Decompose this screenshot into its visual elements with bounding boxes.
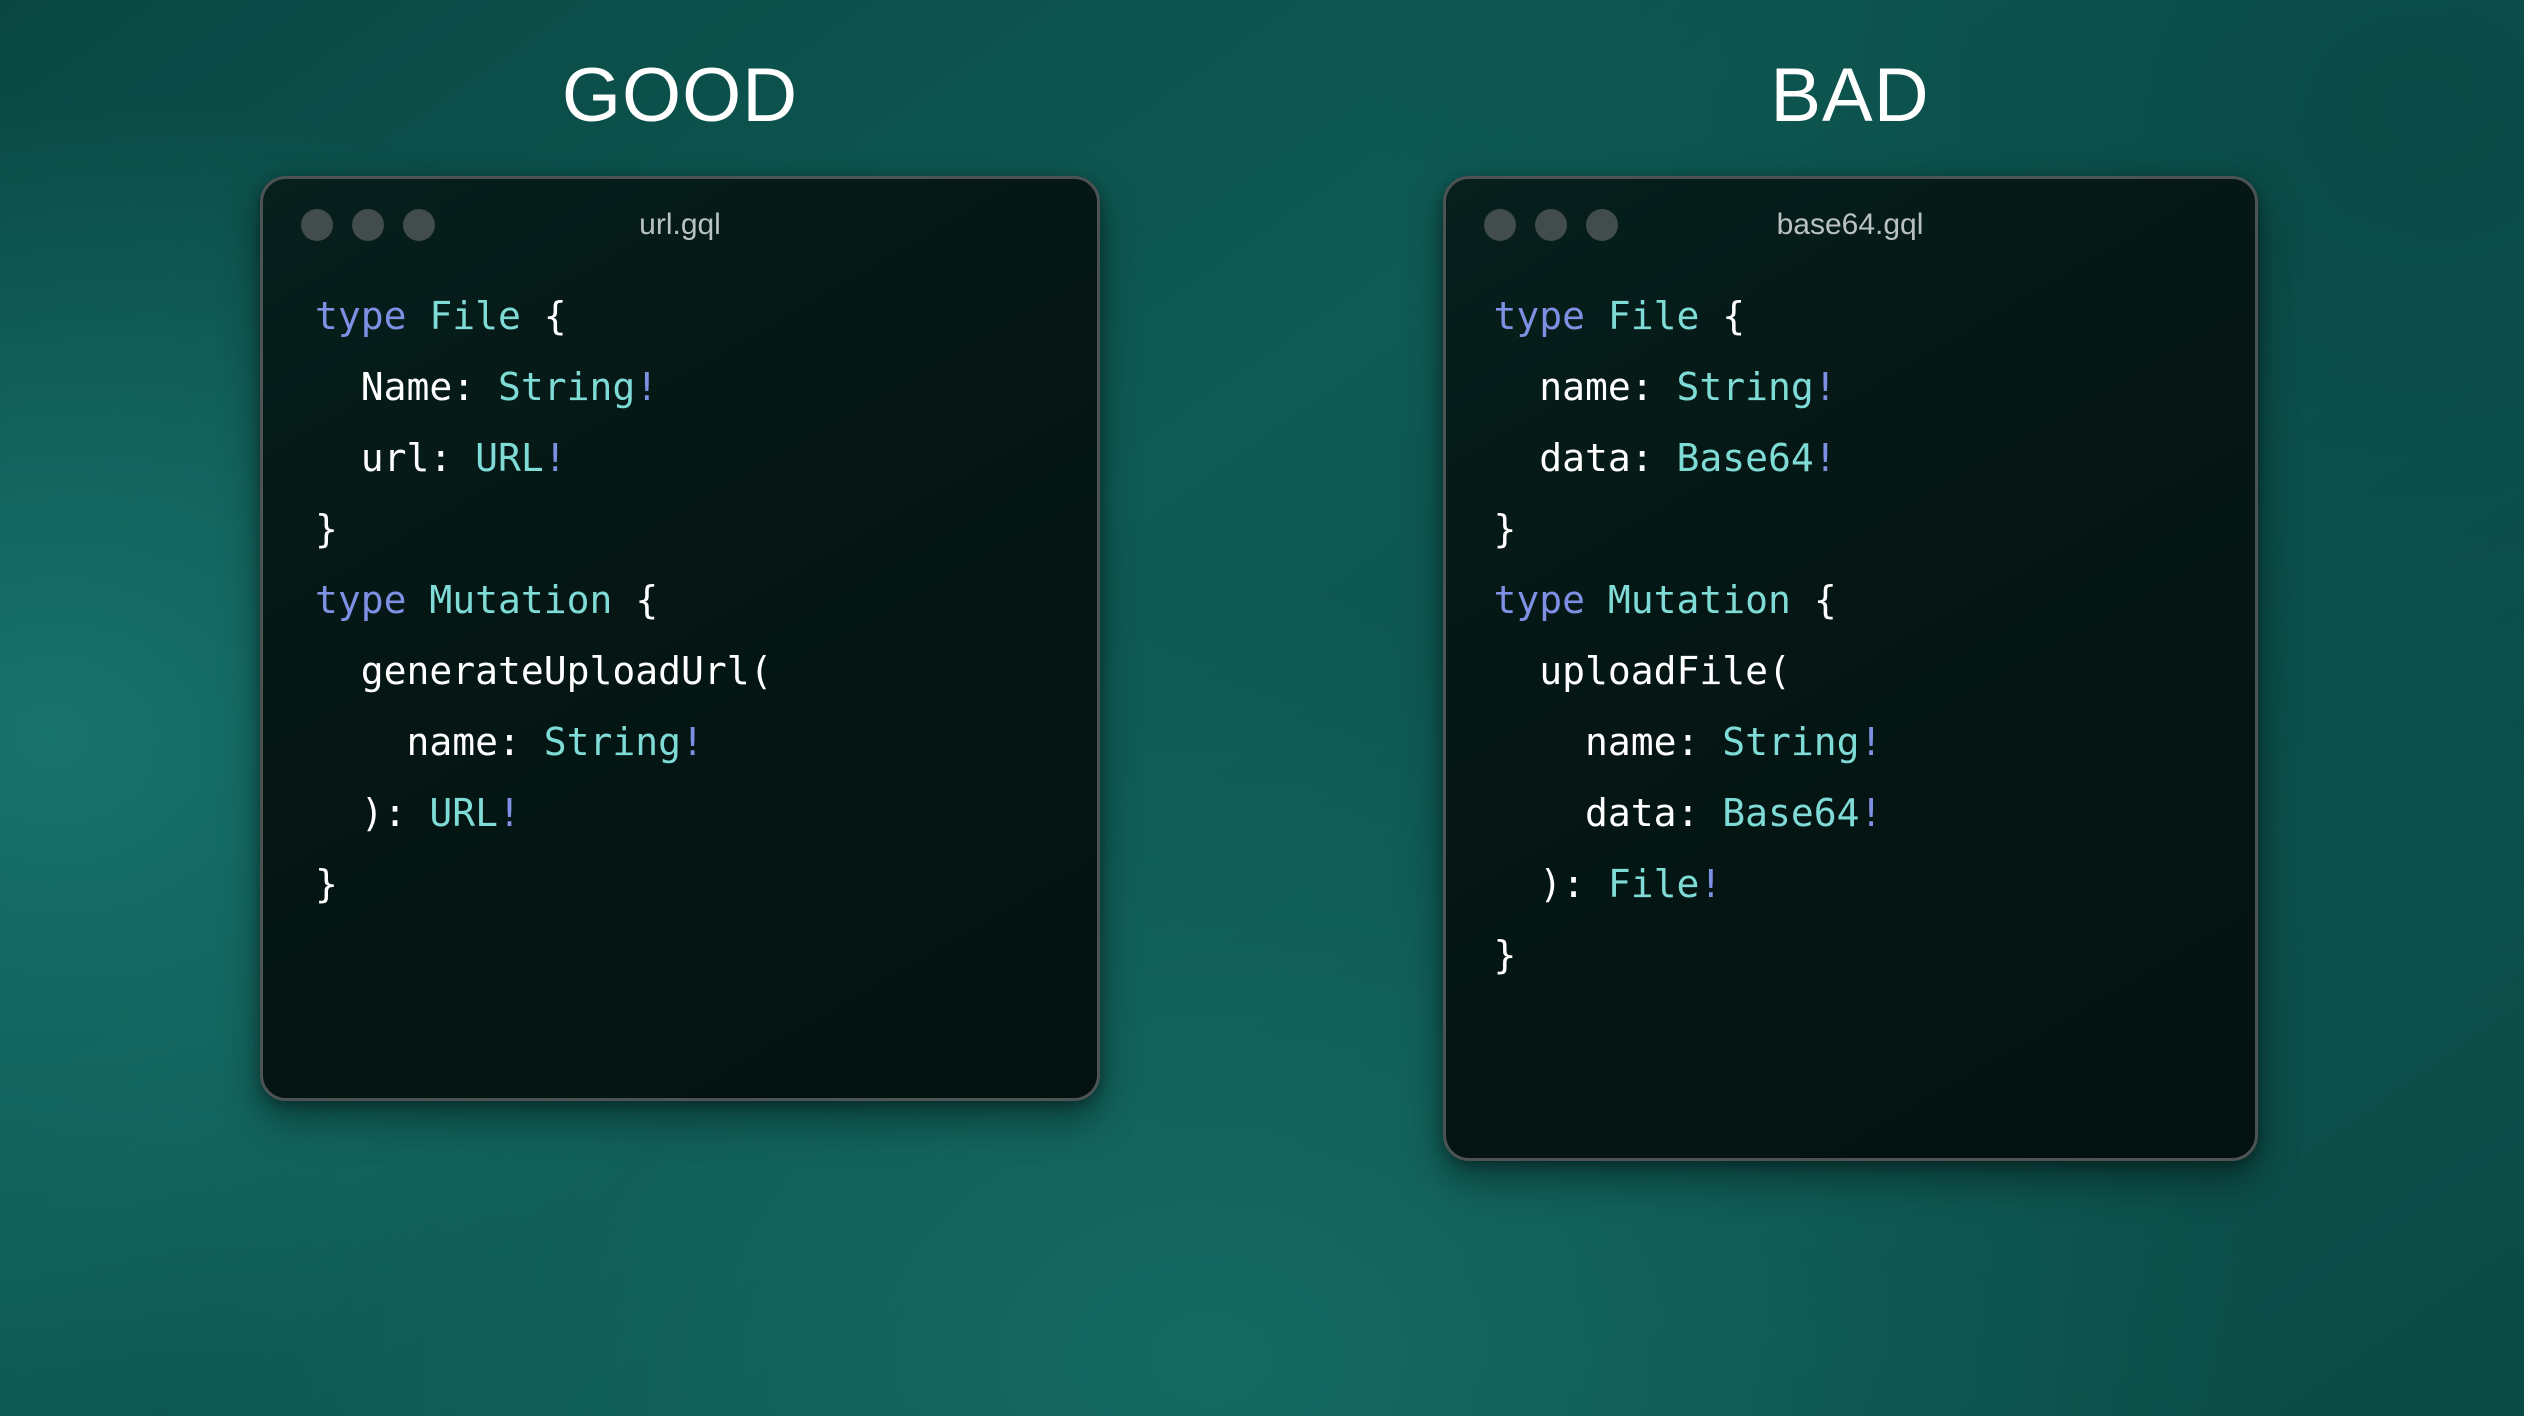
code-token-plain: ): — [1494, 862, 1608, 906]
window-traffic-lights-bad — [1484, 209, 1618, 241]
code-token-type: File — [429, 294, 521, 338]
code-line: } — [1494, 920, 2255, 991]
code-token-plain: name: — [1494, 365, 1677, 409]
code-token-plain: { — [1699, 294, 1745, 338]
code-token-plain — [407, 294, 430, 338]
close-dot-icon[interactable] — [1484, 209, 1516, 241]
code-token-type: Mutation — [429, 578, 612, 622]
code-token-plain: } — [315, 507, 338, 551]
code-token-plain: { — [612, 578, 658, 622]
code-line: } — [1494, 494, 2255, 565]
minimize-dot-icon[interactable] — [352, 209, 384, 241]
code-token-plain: Name: — [315, 365, 498, 409]
code-line: name: String! — [1494, 352, 2255, 423]
good-heading: GOOD — [562, 58, 798, 134]
code-token-plain: generateUploadUrl( — [315, 649, 773, 693]
code-token-kw: type — [315, 578, 407, 622]
code-token-kw: type — [1494, 294, 1586, 338]
code-line: generateUploadUrl( — [315, 636, 1097, 707]
code-token-type: URL — [429, 791, 498, 835]
code-token-plain: } — [1494, 507, 1517, 551]
code-line: type Mutation { — [315, 565, 1097, 636]
code-token-type: String — [544, 720, 681, 764]
code-token-plain: } — [1494, 933, 1517, 977]
code-line: data: Base64! — [1494, 423, 2255, 494]
code-token-bang: ! — [1814, 365, 1837, 409]
code-token-bang: ! — [498, 791, 521, 835]
code-line: } — [315, 494, 1097, 565]
code-token-plain: ): — [315, 791, 429, 835]
code-token-plain — [1585, 294, 1608, 338]
minimize-dot-icon[interactable] — [1535, 209, 1567, 241]
code-line: name: String! — [315, 707, 1097, 778]
code-token-bang: ! — [681, 720, 704, 764]
code-line: ): File! — [1494, 849, 2255, 920]
bad-example-column: BAD base64.gql type File { name: String!… — [1400, 58, 2300, 1161]
code-content-bad[interactable]: type File { name: String! data: Base64!}… — [1446, 271, 2255, 991]
code-window-good[interactable]: url.gql type File { Name: String! url: U… — [260, 176, 1100, 1101]
code-token-kw: type — [315, 294, 407, 338]
maximize-dot-icon[interactable] — [1586, 209, 1618, 241]
code-token-bang: ! — [544, 436, 567, 480]
code-token-plain: { — [521, 294, 567, 338]
code-token-bang: ! — [1860, 791, 1883, 835]
code-line: uploadFile( — [1494, 636, 2255, 707]
code-window-bad[interactable]: base64.gql type File { name: String! dat… — [1443, 176, 2258, 1161]
code-token-type: String — [1677, 365, 1814, 409]
code-token-kw: type — [1494, 578, 1586, 622]
code-token-type: URL — [475, 436, 544, 480]
code-line: ): URL! — [315, 778, 1097, 849]
comparison-canvas: GOOD url.gql type File { Name: String! u… — [0, 0, 2524, 1416]
bad-heading: BAD — [1770, 58, 1929, 134]
code-token-type: File — [1608, 862, 1700, 906]
code-token-bang: ! — [1699, 862, 1722, 906]
code-token-plain — [1585, 578, 1608, 622]
code-line: type Mutation { — [1494, 565, 2255, 636]
code-token-type: File — [1608, 294, 1700, 338]
code-token-plain: { — [1791, 578, 1837, 622]
code-line: } — [315, 849, 1097, 920]
code-token-plain: url: — [315, 436, 475, 480]
code-token-type: Mutation — [1608, 578, 1791, 622]
code-content-good[interactable]: type File { Name: String! url: URL!}type… — [263, 271, 1097, 920]
code-token-type: Base64 — [1677, 436, 1814, 480]
code-token-plain — [407, 578, 430, 622]
good-example-column: GOOD url.gql type File { Name: String! u… — [240, 58, 1120, 1101]
code-token-plain: name: — [1494, 720, 1723, 764]
code-line: data: Base64! — [1494, 778, 2255, 849]
code-line: type File { — [315, 281, 1097, 352]
code-token-plain: data: — [1494, 791, 1723, 835]
code-token-type: String — [1722, 720, 1859, 764]
window-titlebar-good: url.gql — [263, 179, 1097, 271]
code-token-type: Base64 — [1722, 791, 1859, 835]
code-line: Name: String! — [315, 352, 1097, 423]
code-token-plain: name: — [315, 720, 544, 764]
code-token-bang: ! — [1860, 720, 1883, 764]
maximize-dot-icon[interactable] — [403, 209, 435, 241]
code-line: url: URL! — [315, 423, 1097, 494]
window-titlebar-bad: base64.gql — [1446, 179, 2255, 271]
code-line: name: String! — [1494, 707, 2255, 778]
code-token-bang: ! — [635, 365, 658, 409]
window-traffic-lights-good — [301, 209, 435, 241]
code-token-plain: uploadFile( — [1494, 649, 1791, 693]
code-token-plain: } — [315, 862, 338, 906]
close-dot-icon[interactable] — [301, 209, 333, 241]
code-token-type: String — [498, 365, 635, 409]
code-token-bang: ! — [1814, 436, 1837, 480]
code-line: type File { — [1494, 281, 2255, 352]
code-token-plain: data: — [1494, 436, 1677, 480]
